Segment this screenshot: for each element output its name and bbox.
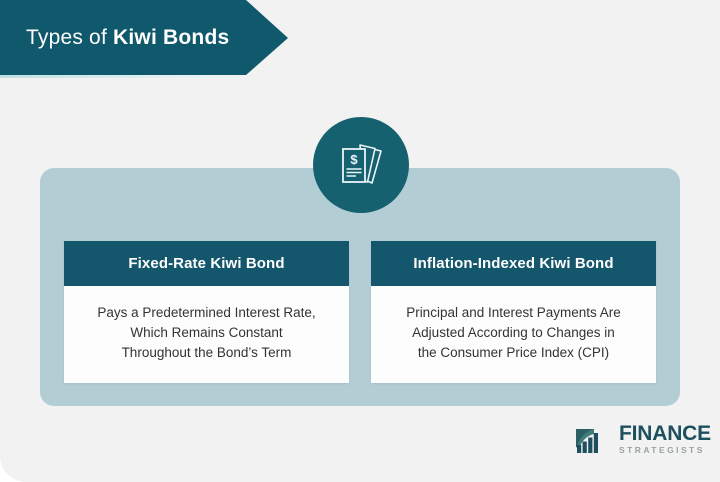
logo-text: FINANCE STRATEGISTS [619, 424, 711, 456]
logo-name: FINANCE [619, 424, 711, 444]
card-description-line: Principal and Interest Payments Are [406, 303, 621, 323]
card-description-line: Pays a Predetermined Interest Rate, [97, 303, 315, 323]
logo-subtitle: STRATEGISTS [619, 445, 711, 456]
infographic-page: Types of Kiwi Bonds $ Fixed-Rate Kiw [0, 0, 720, 482]
card-title: Fixed-Rate Kiwi Bond [64, 241, 349, 286]
icon-badge: $ [313, 117, 409, 213]
card-description-line: Throughout the Bond’s Term [97, 343, 315, 363]
page-title: Types of Kiwi Bonds [0, 26, 229, 50]
header-banner: Types of Kiwi Bonds [0, 0, 288, 75]
svg-text:$: $ [350, 152, 358, 167]
page-title-regular: Types of [26, 26, 113, 49]
page-title-bold: Kiwi Bonds [113, 26, 229, 49]
card-description-line: Adjusted According to Changes in [406, 323, 621, 343]
brand-logo: FINANCE STRATEGISTS [573, 424, 711, 456]
card-inflation-indexed-kiwi-bond: Inflation-Indexed Kiwi Bond Principal an… [371, 241, 656, 383]
card-description: Pays a Predetermined Interest Rate, Whic… [64, 286, 349, 383]
documents-dollar-icon: $ [334, 138, 388, 192]
card-fixed-rate-kiwi-bond: Fixed-Rate Kiwi Bond Pays a Predetermine… [64, 241, 349, 383]
card-description-line: Which Remains Constant [97, 323, 315, 343]
banner-underline [0, 75, 254, 78]
card-description: Principal and Interest Payments Are Adju… [371, 286, 656, 383]
finance-strategists-chart-mark [573, 424, 613, 456]
card-description-line: the Consumer Price Index (CPI) [406, 343, 621, 363]
card-title: Inflation-Indexed Kiwi Bond [371, 241, 656, 286]
card-list: Fixed-Rate Kiwi Bond Pays a Predetermine… [64, 241, 656, 383]
